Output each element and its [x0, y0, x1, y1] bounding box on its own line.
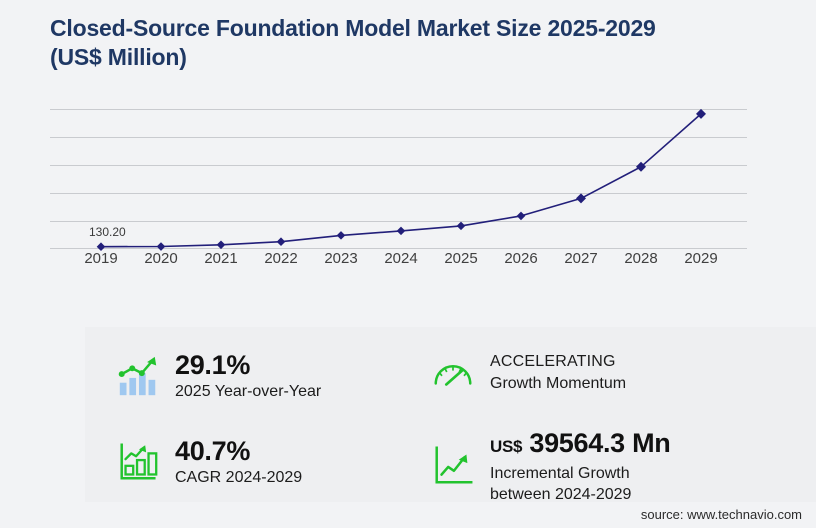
data-point-marker: [397, 227, 406, 236]
x-axis-label-2029: 2029: [684, 250, 717, 267]
stat-year-over-year: 29.1% 2025 Year-over-Year: [115, 349, 321, 402]
cagr-bar-chart-icon: [115, 439, 161, 485]
speedometer-icon: [430, 349, 476, 395]
x-axis-label-2024: 2024: [384, 250, 417, 267]
x-axis-label-2022: 2022: [264, 250, 297, 267]
stat-growth-momentum-value: ACCELERATING: [490, 351, 626, 373]
x-axis-label-2021: 2021: [204, 250, 237, 267]
stat-year-over-year-text: 29.1% 2025 Year-over-Year: [175, 349, 321, 402]
series-line-and-markers: [50, 95, 747, 255]
x-axis-labels: 2019202020212022202320242025202620272028…: [50, 250, 747, 276]
page-title: Closed-Source Foundation Model Market Si…: [50, 14, 790, 72]
key-stats-panel: 29.1% 2025 Year-over-Year 40.7% CAGR 202…: [85, 327, 816, 502]
market-size-line-chart: 130.20 201920202021202220232024202520262…: [0, 95, 816, 280]
stat-growth-momentum: ACCELERATING Growth Momentum: [430, 349, 626, 395]
data-point-marker: [517, 212, 526, 221]
source-attribution: source: www.technavio.com: [641, 507, 802, 522]
x-axis-label-2025: 2025: [444, 250, 477, 267]
stat-incremental-growth-unit: US$: [490, 437, 522, 456]
page-title-line2: (US$ Million): [50, 43, 790, 72]
x-axis-label-2019: 2019: [84, 250, 117, 267]
stat-cagr-value: 40.7%: [175, 435, 302, 467]
stat-incremental-growth-amount: 39564.3 Mn: [529, 428, 670, 458]
stat-cagr-label: CAGR 2024-2029: [175, 467, 302, 488]
x-axis-label-2027: 2027: [564, 250, 597, 267]
stat-incremental-growth-label-line1: Incremental Growth: [490, 463, 670, 484]
stat-incremental-growth-value: US$ 39564.3 Mn: [490, 427, 670, 463]
bar-chart-growth-icon: [115, 353, 161, 399]
infographic-page: Closed-Source Foundation Model Market Si…: [0, 0, 816, 528]
stat-incremental-growth-text: US$ 39564.3 Mn Incremental Growth betwee…: [490, 427, 670, 505]
stat-incremental-growth-label-line2: between 2024-2029: [490, 484, 670, 505]
stat-year-over-year-value: 29.1%: [175, 349, 321, 381]
data-point-marker: [457, 222, 466, 231]
data-point-marker: [576, 193, 586, 203]
growth-arrow-icon: [430, 443, 476, 489]
data-point-marker: [217, 240, 226, 249]
stat-cagr-text: 40.7% CAGR 2024-2029: [175, 435, 302, 488]
data-point-marker: [277, 237, 286, 246]
stat-year-over-year-label: 2025 Year-over-Year: [175, 381, 321, 402]
stat-cagr: 40.7% CAGR 2024-2029: [115, 435, 302, 488]
x-axis-label-2023: 2023: [324, 250, 357, 267]
page-title-line1: Closed-Source Foundation Model Market Si…: [50, 14, 790, 43]
x-axis-label-2028: 2028: [624, 250, 657, 267]
stat-growth-momentum-text: ACCELERATING Growth Momentum: [490, 351, 626, 394]
x-axis-label-2020: 2020: [144, 250, 177, 267]
x-axis-label-2026: 2026: [504, 250, 537, 267]
stat-growth-momentum-label: Growth Momentum: [490, 373, 626, 394]
data-point-marker: [337, 231, 346, 240]
chart-plot-area: 130.20: [50, 95, 747, 250]
stat-incremental-growth: US$ 39564.3 Mn Incremental Growth betwee…: [430, 427, 670, 505]
data-point-label-2019: 130.20: [89, 225, 126, 239]
